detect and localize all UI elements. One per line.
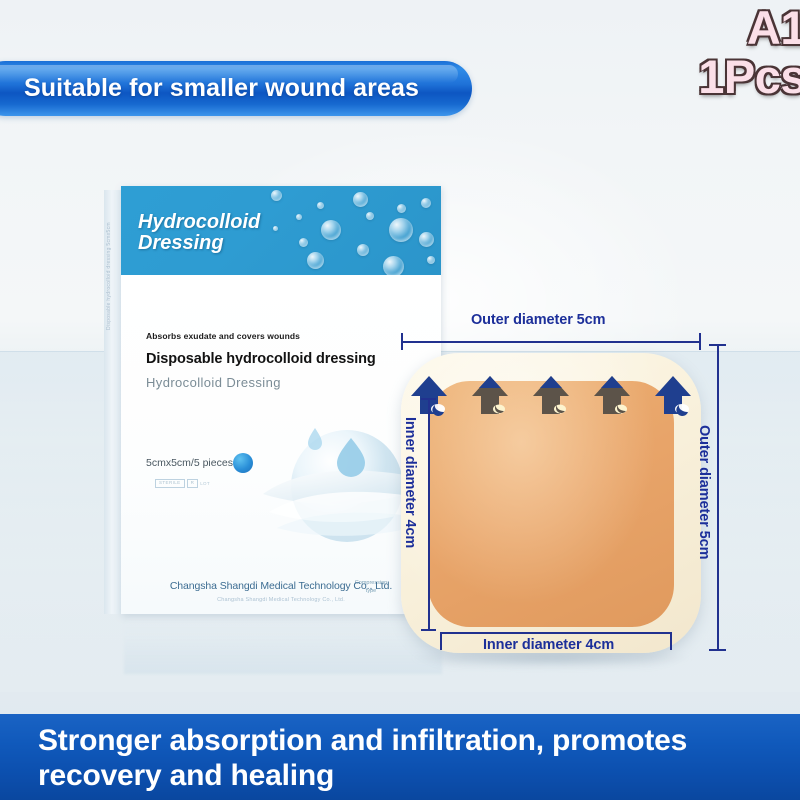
water-droplet-icon [419, 232, 434, 247]
inner-diameter-label-left: Inner diameter 4cm [402, 417, 418, 548]
sterile-badge-method: R [187, 479, 199, 488]
water-droplet-icon [421, 198, 431, 208]
bottom-banner-line2: recovery and healing [38, 758, 778, 793]
water-droplet-icon [389, 218, 413, 242]
box-title-line1: Hydrocolloid [138, 212, 260, 233]
box-product-name: Disposable hydrocolloid dressing [146, 351, 376, 367]
inner-dimension-tick-right2 [670, 632, 672, 650]
top-feature-banner: Suitable for smaller wound areas [0, 61, 472, 116]
quantity-text: 1Pcs [698, 53, 800, 100]
sterile-badge: STERILE R LOT [155, 479, 210, 488]
water-droplet-icon [353, 192, 368, 207]
water-droplet-icon [427, 256, 435, 264]
variant-code-text: A1 [698, 4, 800, 51]
water-droplet-icon [397, 204, 406, 213]
water-droplet-icon [366, 212, 374, 220]
water-droplet-icon [321, 220, 341, 240]
box-accent-dot [233, 453, 253, 473]
water-droplet-icon [273, 226, 278, 231]
water-droplet-icon [357, 244, 369, 256]
inner-dimension-tick-top [421, 398, 436, 400]
product-banner-image: Suitable for smaller wound areas A1 1Pcs… [0, 0, 800, 800]
box-body: Absorbs exudate and covers wounds Dispos… [121, 275, 441, 614]
box-spine: Disposable hydrocolloid dressing 5cmx5cm [104, 190, 122, 614]
water-droplet-icon [317, 202, 324, 209]
outer-dimension-tick-top [709, 344, 726, 346]
outer-dimension-tick-left [401, 333, 403, 350]
box-specification: 5cmx5cm/5 pieces [146, 457, 233, 469]
water-droplet-icon [299, 238, 308, 247]
box-spine-text: Disposable hydrocolloid dressing 5cmx5cm [106, 130, 112, 330]
box-front-face: Hydrocolloid Dressing [121, 186, 441, 614]
sterile-badge-extra: LOT [200, 481, 210, 486]
outer-dimension-tick-right [699, 333, 701, 350]
water-droplet-icon [307, 252, 324, 269]
box-company-name: Changsha Shangdi Medical Technology Co.,… [121, 580, 441, 592]
bottom-banner-text: Stronger absorption and infiltration, pr… [38, 723, 778, 793]
outer-dimension-tick-bottom [709, 649, 726, 651]
corner-variant-badge: A1 1Pcs [698, 4, 800, 100]
box-reflection [124, 616, 442, 674]
box-header-title: Hydrocolloid Dressing [138, 212, 260, 254]
sterile-badge-label: STERILE [155, 479, 185, 488]
box-header-band: Hydrocolloid Dressing [121, 186, 441, 275]
bottom-feature-banner: Stronger absorption and infiltration, pr… [0, 714, 800, 800]
box-title-line2: Dressing [138, 233, 260, 254]
dressing-pad-outer [401, 353, 701, 653]
box-product-name-alt: Hydrocolloid Dressing [146, 375, 281, 390]
water-droplet-icon [383, 256, 404, 275]
outer-diameter-label-top: Outer diameter 5cm [471, 312, 605, 328]
outer-diameter-label-right: Outer diameter 5cm [696, 425, 712, 559]
outer-dimension-line-right [717, 344, 719, 650]
top-banner-text: Suitable for smaller wound areas [0, 74, 419, 103]
water-droplet-icon [296, 214, 302, 220]
product-package-box: Disposable hydrocolloid dressing 5cmx5cm [104, 186, 441, 618]
dressing-pad-core [428, 381, 674, 627]
outer-dimension-line-top [401, 341, 701, 343]
inner-dimension-tick-left2 [440, 632, 442, 650]
box-company-name-sub: Changsha Shangdi Medical Technology Co.,… [121, 597, 441, 603]
inner-diameter-label-bottom: Inner diameter 4cm [483, 637, 614, 653]
bottom-banner-line1: Stronger absorption and infiltration, pr… [38, 723, 778, 758]
water-droplet-icon [271, 190, 282, 201]
inner-dimension-tick-bottom [421, 629, 436, 631]
box-subtitle: Absorbs exudate and covers wounds [146, 331, 300, 341]
